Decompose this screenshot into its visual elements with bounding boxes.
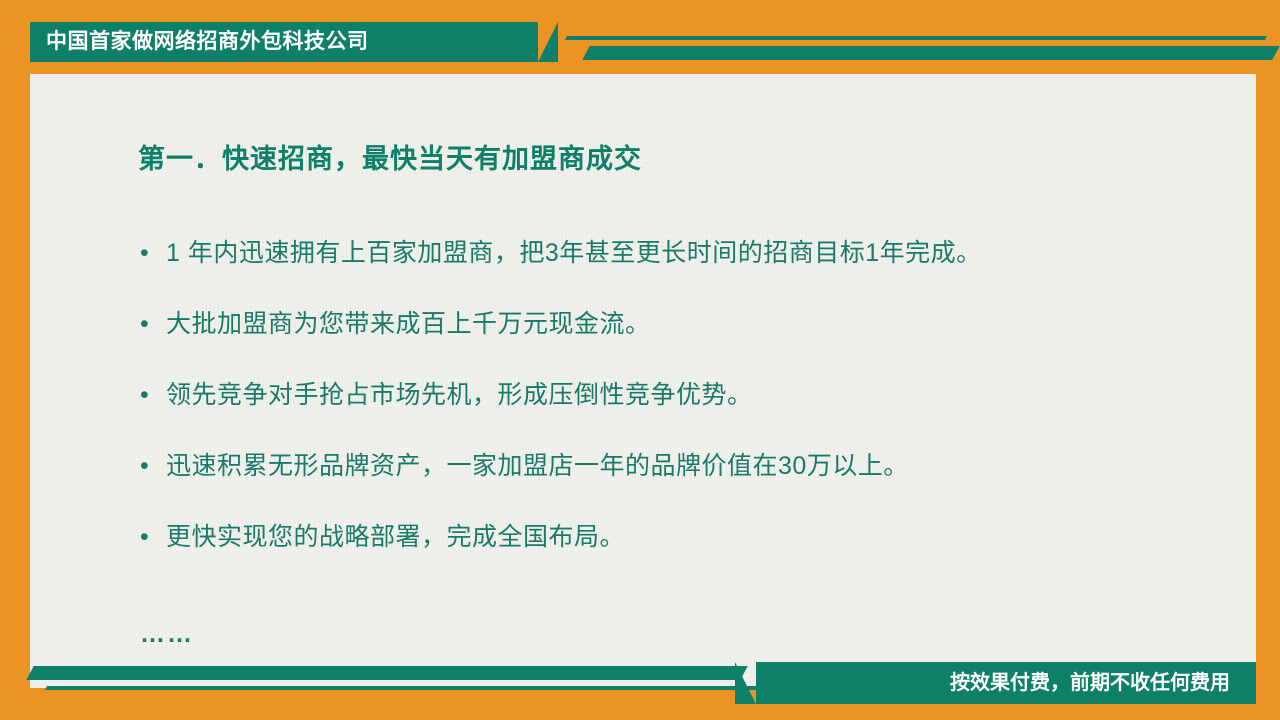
header-title: 中国首家做网络招商外包科技公司: [46, 22, 369, 62]
list-item-text: 领先竞争对手抢占市场先机，形成压倒性竞争优势。: [166, 378, 753, 412]
slide: 中国首家做网络招商外包科技公司 第一．快速招商，最快当天有加盟商成交 • 1 年…: [0, 0, 1280, 720]
header-stripe-thin: [565, 36, 1267, 40]
bullet-marker-icon: •: [140, 236, 166, 270]
footer-note: 按效果付费，前期不收任何费用: [950, 662, 1230, 704]
list-item: • 大批加盟商为您带来成百上千万元现金流。: [140, 307, 1210, 341]
bullet-list: • 1 年内迅速拥有上百家加盟商，把3年甚至更长时间的招商目标1年完成。 • 大…: [140, 236, 1210, 591]
list-item: • 领先竞争对手抢占市场先机，形成压倒性竞争优势。: [140, 378, 1210, 412]
ellipsis-text: ……: [140, 620, 194, 649]
list-item-text: 更快实现您的战略部署，完成全国布局。: [166, 520, 625, 554]
header-band: 中国首家做网络招商外包科技公司: [30, 22, 1256, 62]
bullet-marker-icon: •: [140, 378, 166, 412]
footer-stripe-thick: [26, 666, 747, 680]
bullet-marker-icon: •: [140, 307, 166, 341]
footer-stripe-thin: [45, 686, 759, 690]
list-item: • 1 年内迅速拥有上百家加盟商，把3年甚至更长时间的招商目标1年完成。: [140, 236, 1210, 270]
list-item: • 迅速积累无形品牌资产，一家加盟店一年的品牌价值在30万以上。: [140, 449, 1210, 483]
list-item-text: 迅速积累无形品牌资产，一家加盟店一年的品牌价值在30万以上。: [166, 449, 909, 483]
footer-green-block: 按效果付费，前期不收任何费用: [756, 662, 1256, 704]
slide-headline: 第一．快速招商，最快当天有加盟商成交: [138, 137, 642, 176]
list-item-text: 1 年内迅速拥有上百家加盟商，把3年甚至更长时间的招商目标1年完成。: [166, 236, 982, 270]
footer-band: 按效果付费，前期不收任何费用: [30, 662, 1256, 704]
bullet-marker-icon: •: [140, 449, 166, 483]
list-item: • 更快实现您的战略部署，完成全国布局。: [140, 520, 1210, 554]
bullet-marker-icon: •: [140, 520, 166, 554]
header-stripe-thick: [582, 46, 1279, 60]
list-item-text: 大批加盟商为您带来成百上千万元现金流。: [166, 307, 651, 341]
